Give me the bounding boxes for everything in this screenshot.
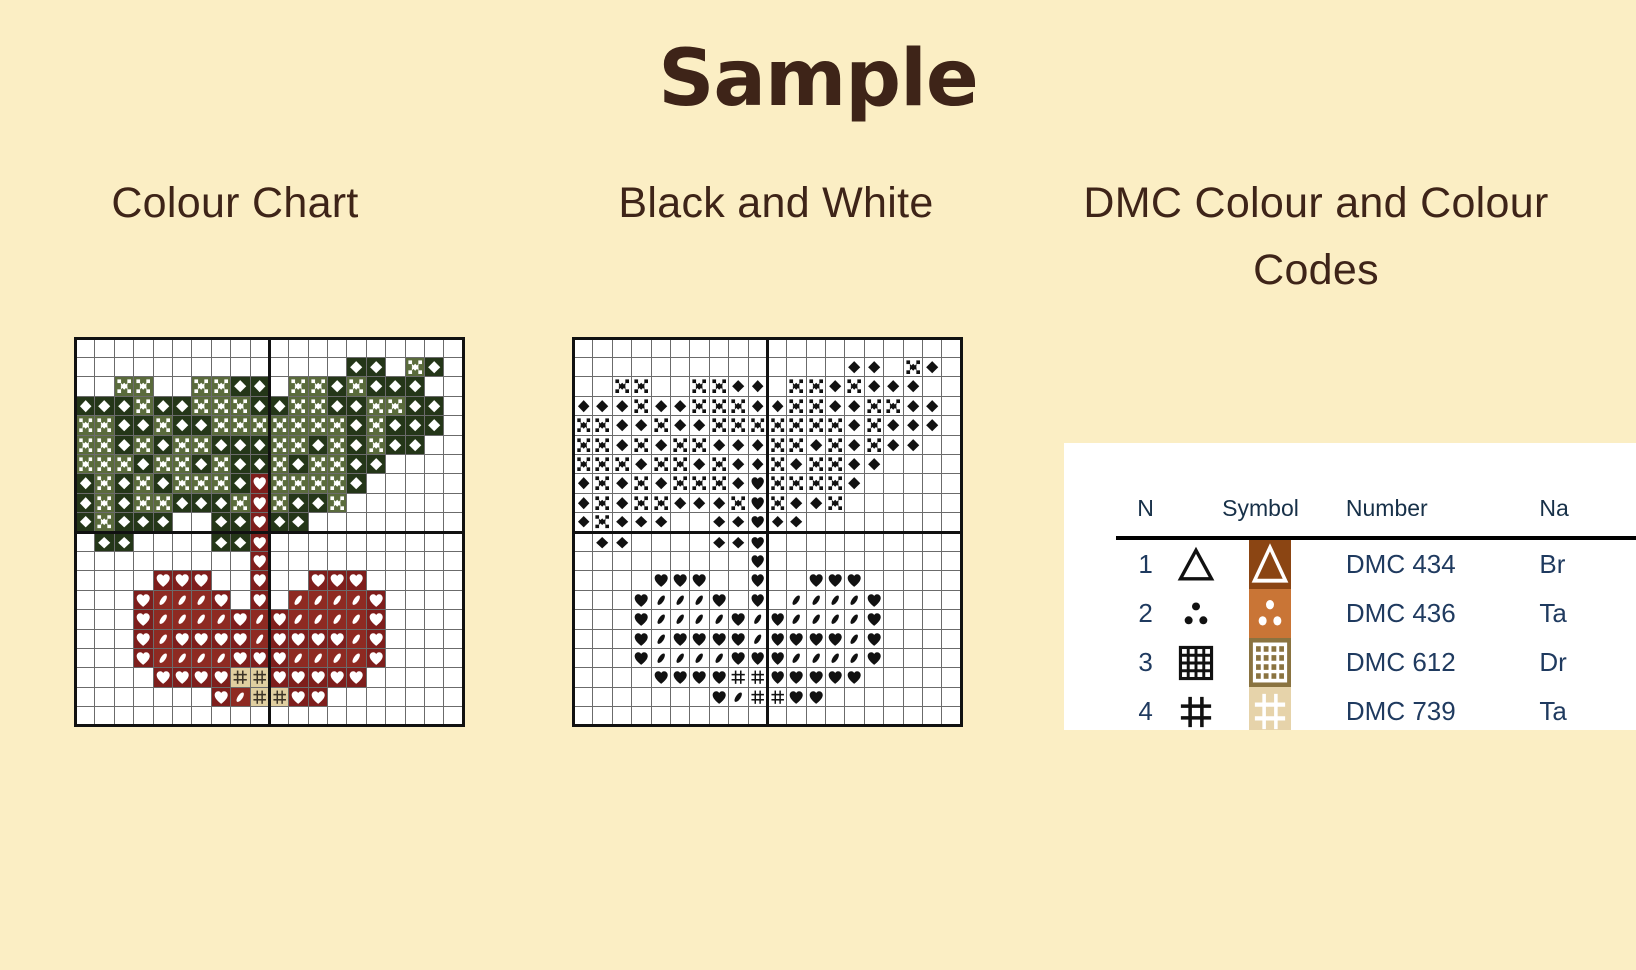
stitch-cell[interactable] [366,551,385,570]
stitch-cell[interactable] [787,454,806,473]
stitch-cell[interactable] [903,648,922,667]
stitch-cell[interactable] [405,629,424,648]
stitch-cell[interactable] [670,338,689,357]
stitch-cell[interactable] [651,668,670,687]
stitch-cell[interactable] [134,474,153,493]
stitch-cell[interactable] [884,454,903,473]
stitch-cell[interactable] [289,629,308,648]
stitch-cell[interactable] [593,358,612,377]
stitch-cell[interactable] [612,513,631,532]
stitch-cell[interactable] [347,707,366,726]
stitch-cell[interactable] [192,687,211,706]
stitch-cell[interactable] [134,513,153,532]
stitch-cell[interactable] [95,551,114,570]
stitch-cell[interactable] [612,590,631,609]
stitch-cell[interactable] [153,551,172,570]
stitch-cell[interactable] [172,338,191,357]
stitch-cell[interactable] [767,687,786,706]
stitch-cell[interactable] [903,513,922,532]
stitch-cell[interactable] [884,474,903,493]
stitch-cell[interactable] [574,493,593,512]
stitch-cell[interactable] [231,338,250,357]
stitch-cell[interactable] [942,707,961,726]
stitch-cell[interactable] [328,687,347,706]
stitch-cell[interactable] [709,435,728,454]
stitch-cell[interactable] [845,454,864,473]
stitch-cell[interactable] [864,532,883,551]
stitch-cell[interactable] [328,532,347,551]
stitch-cell[interactable] [328,435,347,454]
stitch-cell[interactable] [670,707,689,726]
stitch-cell[interactable] [884,358,903,377]
stitch-cell[interactable] [386,629,405,648]
stitch-cell[interactable] [192,474,211,493]
stitch-cell[interactable] [347,377,366,396]
stitch-cell[interactable] [709,416,728,435]
stitch-cell[interactable] [114,629,133,648]
stitch-cell[interactable] [347,435,366,454]
stitch-cell[interactable] [192,629,211,648]
stitch-cell[interactable] [386,358,405,377]
stitch-cell[interactable] [211,474,230,493]
stitch-cell[interactable] [593,590,612,609]
stitch-cell[interactable] [670,532,689,551]
stitch-cell[interactable] [134,416,153,435]
stitch-cell[interactable] [231,454,250,473]
stitch-cell[interactable] [114,532,133,551]
stitch-cell[interactable] [748,377,767,396]
stitch-cell[interactable] [632,493,651,512]
stitch-cell[interactable] [231,668,250,687]
stitch-cell[interactable] [826,338,845,357]
stitch-cell[interactable] [347,454,366,473]
stitch-cell[interactable] [114,668,133,687]
stitch-cell[interactable] [942,668,961,687]
stitch-cell[interactable] [651,493,670,512]
stitch-cell[interactable] [651,435,670,454]
stitch-cell[interactable] [250,687,269,706]
stitch-cell[interactable] [444,707,463,726]
stitch-cell[interactable] [76,610,95,629]
stitch-cell[interactable] [386,435,405,454]
stitch-cell[interactable] [444,648,463,667]
stitch-cell[interactable] [670,474,689,493]
stitch-cell[interactable] [250,532,269,551]
stitch-cell[interactable] [806,338,825,357]
stitch-cell[interactable] [308,358,327,377]
stitch-cell[interactable] [425,648,444,667]
stitch-cell[interactable] [690,571,709,590]
stitch-cell[interactable] [231,377,250,396]
stitch-cell[interactable] [923,435,942,454]
stitch-cell[interactable] [593,377,612,396]
stitch-cell[interactable] [767,532,786,551]
stitch-cell[interactable] [250,648,269,667]
stitch-cell[interactable] [405,454,424,473]
stitch-cell[interactable] [593,474,612,493]
stitch-cell[interactable] [250,590,269,609]
stitch-cell[interactable] [172,687,191,706]
stitch-cell[interactable] [95,687,114,706]
stitch-cell[interactable] [289,551,308,570]
stitch-cell[interactable] [328,396,347,415]
stitch-cell[interactable] [574,551,593,570]
stitch-cell[interactable] [632,435,651,454]
stitch-cell[interactable] [425,687,444,706]
stitch-cell[interactable] [903,338,922,357]
stitch-cell[interactable] [250,571,269,590]
stitch-cell[interactable] [632,551,651,570]
stitch-cell[interactable] [328,551,347,570]
stitch-cell[interactable] [231,571,250,590]
stitch-cell[interactable] [386,551,405,570]
stitch-cell[interactable] [250,513,269,532]
stitch-cell[interactable] [172,435,191,454]
stitch-cell[interactable] [308,338,327,357]
stitch-cell[interactable] [651,532,670,551]
stitch-cell[interactable] [845,416,864,435]
stitch-cell[interactable] [826,707,845,726]
stitch-cell[interactable] [425,707,444,726]
stitch-cell[interactable] [884,629,903,648]
stitch-cell[interactable] [192,377,211,396]
stitch-cell[interactable] [289,590,308,609]
stitch-cell[interactable] [250,454,269,473]
stitch-cell[interactable] [76,338,95,357]
stitch-cell[interactable] [425,358,444,377]
stitch-cell[interactable] [903,610,922,629]
stitch-cell[interactable] [153,377,172,396]
stitch-cell[interactable] [612,648,631,667]
stitch-cell[interactable] [767,610,786,629]
stitch-cell[interactable] [593,648,612,667]
stitch-cell[interactable] [748,338,767,357]
stitch-cell[interactable] [444,396,463,415]
stitch-cell[interactable] [444,416,463,435]
stitch-cell[interactable] [192,668,211,687]
stitch-cell[interactable] [366,687,385,706]
stitch-cell[interactable] [153,687,172,706]
stitch-cell[interactable] [114,377,133,396]
stitch-cell[interactable] [787,396,806,415]
stitch-cell[interactable] [250,358,269,377]
stitch-cell[interactable] [308,416,327,435]
stitch-cell[interactable] [574,590,593,609]
stitch-cell[interactable] [884,435,903,454]
stitch-cell[interactable] [632,377,651,396]
stitch-cell[interactable] [748,571,767,590]
stitch-cell[interactable] [211,629,230,648]
stitch-cell[interactable] [289,532,308,551]
stitch-cell[interactable] [787,338,806,357]
stitch-cell[interactable] [269,648,288,667]
stitch-cell[interactable] [690,396,709,415]
stitch-cell[interactable] [845,377,864,396]
stitch-cell[interactable] [134,571,153,590]
stitch-cell[interactable] [231,551,250,570]
stitch-cell[interactable] [269,416,288,435]
stitch-cell[interactable] [864,377,883,396]
stitch-cell[interactable] [574,629,593,648]
stitch-cell[interactable] [231,707,250,726]
stitch-cell[interactable] [729,551,748,570]
stitch-cell[interactable] [690,416,709,435]
stitch-cell[interactable] [923,532,942,551]
stitch-cell[interactable] [709,571,728,590]
stitch-cell[interactable] [806,377,825,396]
stitch-cell[interactable] [347,474,366,493]
stitch-cell[interactable] [231,513,250,532]
stitch-cell[interactable] [153,435,172,454]
stitch-cell[interactable] [942,474,961,493]
colour-chart-grid[interactable] [74,337,465,728]
stitch-cell[interactable] [845,707,864,726]
stitch-cell[interactable] [425,571,444,590]
stitch-cell[interactable] [806,435,825,454]
stitch-cell[interactable] [923,571,942,590]
bw-chart-grid[interactable] [572,337,963,728]
stitch-cell[interactable] [211,513,230,532]
stitch-cell[interactable] [425,474,444,493]
stitch-cell[interactable] [386,668,405,687]
stitch-cell[interactable] [366,707,385,726]
stitch-cell[interactable] [709,668,728,687]
stitch-cell[interactable] [690,338,709,357]
stitch-cell[interactable] [632,338,651,357]
stitch-cell[interactable] [366,571,385,590]
stitch-cell[interactable] [864,629,883,648]
stitch-cell[interactable] [366,493,385,512]
stitch-cell[interactable] [366,377,385,396]
stitch-cell[interactable] [709,396,728,415]
stitch-cell[interactable] [690,377,709,396]
stitch-cell[interactable] [612,687,631,706]
stitch-cell[interactable] [425,493,444,512]
stitch-cell[interactable] [787,532,806,551]
stitch-cell[interactable] [153,707,172,726]
stitch-cell[interactable] [308,707,327,726]
stitch-cell[interactable] [923,629,942,648]
stitch-cell[interactable] [192,396,211,415]
stitch-cell[interactable] [864,493,883,512]
stitch-cell[interactable] [114,435,133,454]
stitch-cell[interactable] [806,571,825,590]
stitch-cell[interactable] [425,668,444,687]
stitch-cell[interactable] [767,416,786,435]
stitch-cell[interactable] [172,590,191,609]
stitch-cell[interactable] [211,668,230,687]
stitch-cell[interactable] [269,629,288,648]
stitch-cell[interactable] [690,551,709,570]
stitch-cell[interactable] [632,687,651,706]
stitch-cell[interactable] [134,493,153,512]
stitch-cell[interactable] [729,513,748,532]
stitch-cell[interactable] [76,687,95,706]
stitch-cell[interactable] [172,416,191,435]
stitch-cell[interactable] [366,435,385,454]
stitch-cell[interactable] [425,435,444,454]
stitch-cell[interactable] [729,493,748,512]
stitch-cell[interactable] [231,648,250,667]
stitch-cell[interactable] [192,648,211,667]
stitch-cell[interactable] [328,377,347,396]
stitch-cell[interactable] [864,435,883,454]
stitch-cell[interactable] [903,629,922,648]
stitch-cell[interactable] [670,454,689,473]
stitch-cell[interactable] [192,493,211,512]
stitch-cell[interactable] [211,551,230,570]
stitch-cell[interactable] [366,338,385,357]
stitch-cell[interactable] [767,513,786,532]
stitch-cell[interactable] [767,707,786,726]
stitch-cell[interactable] [114,551,133,570]
stitch-cell[interactable] [289,358,308,377]
stitch-cell[interactable] [593,338,612,357]
stitch-cell[interactable] [405,493,424,512]
stitch-cell[interactable] [787,358,806,377]
stitch-cell[interactable] [884,493,903,512]
stitch-cell[interactable] [787,571,806,590]
stitch-cell[interactable] [729,590,748,609]
stitch-cell[interactable] [864,707,883,726]
stitch-cell[interactable] [328,629,347,648]
stitch-cell[interactable] [729,648,748,667]
stitch-cell[interactable] [923,396,942,415]
stitch-cell[interactable] [903,687,922,706]
stitch-cell[interactable] [114,416,133,435]
stitch-cell[interactable] [903,377,922,396]
stitch-cell[interactable] [593,707,612,726]
stitch-cell[interactable] [729,687,748,706]
stitch-cell[interactable] [632,668,651,687]
stitch-cell[interactable] [386,610,405,629]
stitch-cell[interactable] [806,551,825,570]
stitch-cell[interactable] [366,532,385,551]
stitch-cell[interactable] [95,416,114,435]
stitch-cell[interactable] [308,532,327,551]
stitch-cell[interactable] [172,454,191,473]
stitch-cell[interactable] [308,571,327,590]
stitch-cell[interactable] [250,551,269,570]
stitch-cell[interactable] [787,493,806,512]
stitch-cell[interactable] [95,396,114,415]
stitch-cell[interactable] [806,707,825,726]
stitch-cell[interactable] [386,396,405,415]
stitch-cell[interactable] [192,338,211,357]
stitch-cell[interactable] [269,571,288,590]
stitch-cell[interactable] [347,358,366,377]
stitch-cell[interactable] [593,435,612,454]
stitch-cell[interactable] [729,377,748,396]
stitch-cell[interactable] [134,338,153,357]
stitch-cell[interactable] [923,338,942,357]
stitch-cell[interactable] [347,629,366,648]
stitch-cell[interactable] [328,707,347,726]
stitch-cell[interactable] [787,707,806,726]
stitch-cell[interactable] [903,493,922,512]
stitch-cell[interactable] [709,648,728,667]
stitch-cell[interactable] [328,648,347,667]
stitch-cell[interactable] [231,474,250,493]
stitch-cell[interactable] [767,668,786,687]
stitch-cell[interactable] [444,338,463,357]
stitch-cell[interactable] [767,648,786,667]
stitch-cell[interactable] [192,610,211,629]
stitch-cell[interactable] [806,416,825,435]
stitch-cell[interactable] [328,416,347,435]
stitch-cell[interactable] [748,610,767,629]
stitch-cell[interactable] [942,532,961,551]
stitch-cell[interactable] [612,435,631,454]
stitch-cell[interactable] [114,707,133,726]
stitch-cell[interactable] [95,435,114,454]
stitch-cell[interactable] [405,435,424,454]
stitch-cell[interactable] [923,454,942,473]
stitch-cell[interactable] [670,629,689,648]
stitch-cell[interactable] [308,590,327,609]
stitch-cell[interactable] [328,493,347,512]
stitch-cell[interactable] [651,571,670,590]
stitch-cell[interactable] [845,551,864,570]
stitch-cell[interactable] [192,454,211,473]
stitch-cell[interactable] [612,493,631,512]
stitch-cell[interactable] [787,377,806,396]
stitch-cell[interactable] [593,610,612,629]
stitch-cell[interactable] [826,358,845,377]
stitch-cell[interactable] [172,532,191,551]
stitch-cell[interactable] [593,551,612,570]
stitch-cell[interactable] [826,377,845,396]
stitch-cell[interactable] [211,358,230,377]
stitch-cell[interactable] [76,474,95,493]
stitch-cell[interactable] [347,493,366,512]
stitch-cell[interactable] [425,551,444,570]
stitch-cell[interactable] [574,474,593,493]
stitch-cell[interactable] [192,571,211,590]
stitch-cell[interactable] [864,551,883,570]
stitch-cell[interactable] [134,454,153,473]
stitch-cell[interactable] [114,396,133,415]
stitch-cell[interactable] [942,493,961,512]
stitch-cell[interactable] [308,474,327,493]
stitch-cell[interactable] [405,590,424,609]
stitch-cell[interactable] [767,551,786,570]
stitch-cell[interactable] [153,610,172,629]
stitch-cell[interactable] [690,493,709,512]
stitch-cell[interactable] [425,454,444,473]
stitch-cell[interactable] [405,358,424,377]
stitch-cell[interactable] [386,493,405,512]
stitch-cell[interactable] [942,454,961,473]
stitch-cell[interactable] [632,629,651,648]
stitch-cell[interactable] [269,610,288,629]
stitch-cell[interactable] [709,377,728,396]
stitch-cell[interactable] [153,416,172,435]
stitch-cell[interactable] [612,416,631,435]
stitch-cell[interactable] [670,668,689,687]
stitch-cell[interactable] [366,610,385,629]
stitch-cell[interactable] [172,513,191,532]
stitch-cell[interactable] [289,435,308,454]
stitch-cell[interactable] [806,358,825,377]
stitch-cell[interactable] [386,532,405,551]
stitch-cell[interactable] [690,590,709,609]
stitch-cell[interactable] [748,474,767,493]
stitch-cell[interactable] [690,358,709,377]
stitch-cell[interactable] [172,629,191,648]
stitch-cell[interactable] [884,513,903,532]
stitch-cell[interactable] [632,396,651,415]
